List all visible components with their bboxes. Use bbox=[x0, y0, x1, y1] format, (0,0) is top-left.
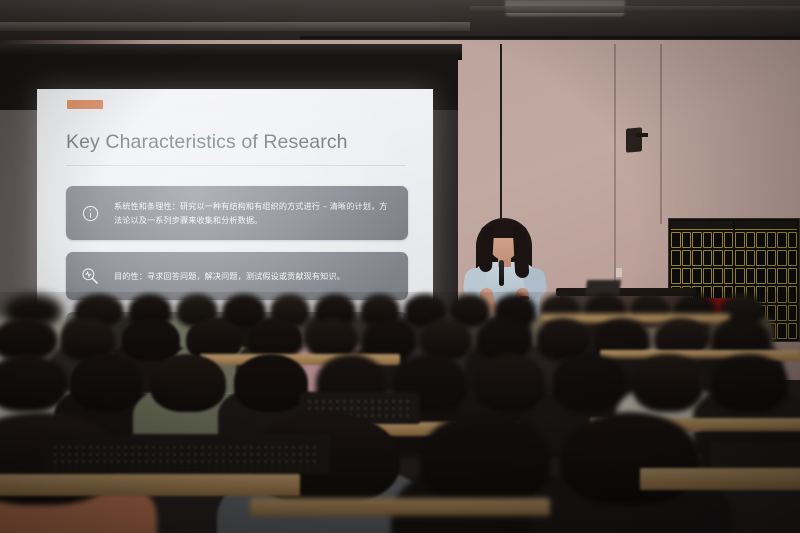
locker-row bbox=[735, 232, 797, 248]
audience-member-head bbox=[70, 354, 142, 412]
speaker-mount bbox=[636, 133, 648, 137]
locker-row bbox=[735, 268, 797, 284]
accent-bar bbox=[67, 100, 103, 109]
ceiling-pipe bbox=[300, 36, 800, 39]
lecture-hall-photo: Key Characteristics of Research 系统性和条理性：… bbox=[0, 0, 800, 533]
hanging-cable bbox=[500, 44, 502, 226]
magnifier-pulse-icon bbox=[66, 266, 114, 286]
audience-member-head bbox=[710, 354, 788, 412]
audience-member-head bbox=[420, 412, 550, 505]
seat-perforation bbox=[710, 442, 800, 468]
info-circle-icon bbox=[66, 204, 114, 223]
slide-title: Key Characteristics of Research bbox=[66, 131, 348, 154]
slide-bullet-systematic: 系统性和条理性：研究以一种有结构和有组织的方式进行 – 清晰的计划，方法论以及一… bbox=[66, 186, 408, 240]
audience-member-head bbox=[632, 354, 704, 412]
bullet-text: 目的性：寻求回答问题，解决问题，测试假设或贡献现有知识。 bbox=[114, 269, 408, 283]
audience-member-head bbox=[122, 318, 180, 361]
presenter-hair-right bbox=[513, 226, 530, 279]
wall-speaker bbox=[626, 127, 642, 152]
audience-member-head bbox=[474, 354, 546, 412]
presenter-hair-left bbox=[479, 226, 494, 273]
audience-member-head bbox=[560, 412, 700, 505]
desk bbox=[0, 474, 300, 496]
bullet-text: 系统性和条理性：研究以一种有结构和有组织的方式进行 – 清晰的计划，方法论以及一… bbox=[114, 199, 408, 227]
microphone bbox=[499, 260, 504, 286]
locker-row bbox=[671, 268, 733, 284]
title-divider bbox=[66, 165, 406, 166]
locker-header bbox=[671, 221, 733, 230]
audience-member-head bbox=[552, 354, 626, 412]
ceiling-duct bbox=[470, 6, 800, 13]
audience-member-head bbox=[150, 354, 226, 412]
desk bbox=[640, 468, 800, 490]
audience-member-head bbox=[234, 354, 308, 412]
wall-outlet bbox=[616, 268, 622, 277]
wall-seam bbox=[660, 44, 662, 224]
locker-row bbox=[735, 250, 797, 266]
seat-perforation bbox=[52, 444, 318, 468]
locker-header bbox=[735, 221, 797, 230]
desk bbox=[250, 498, 550, 516]
locker-row bbox=[671, 232, 733, 248]
locker-row bbox=[671, 250, 733, 266]
ceiling-beam bbox=[0, 22, 470, 31]
audience bbox=[0, 292, 800, 533]
